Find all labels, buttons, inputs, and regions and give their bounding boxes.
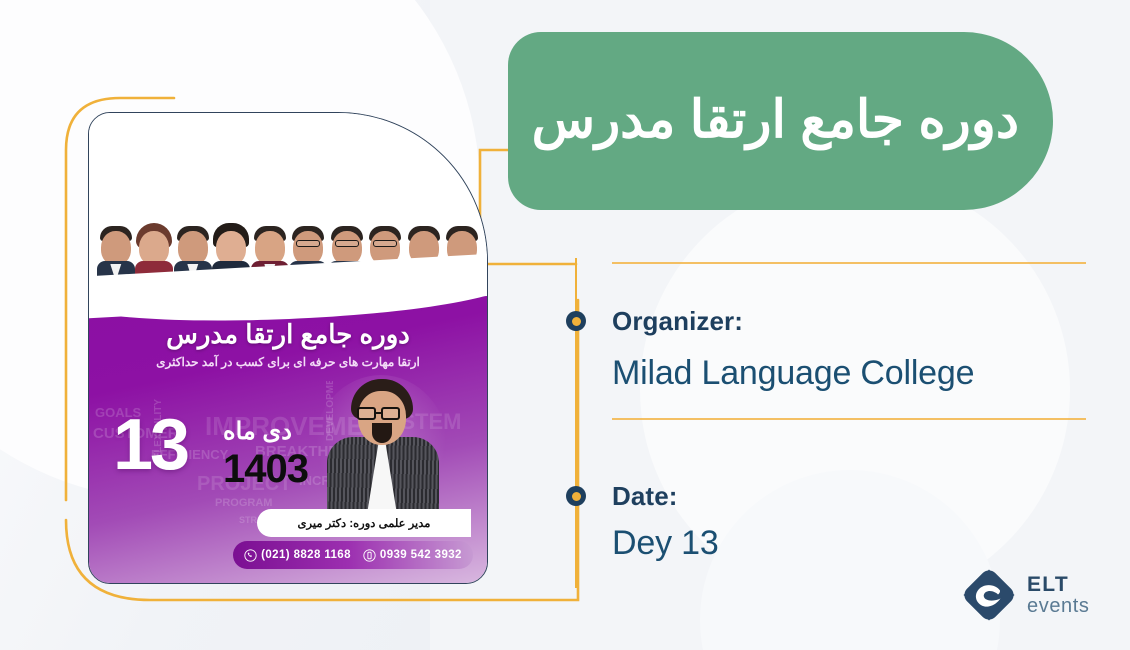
whatsapp-icon (363, 549, 376, 562)
poster-card-surface: دکتر قدیم پست دکتر خانی مقصودی دکتر سعید… (88, 112, 488, 584)
speaker-portrait: دکتر خانی مقصودی (136, 209, 174, 281)
head-shape (293, 231, 323, 265)
logo-line-events: events (1027, 596, 1090, 616)
contact-mobile[interactable]: 0939 542 3932 (363, 549, 462, 562)
bullet-dot-icon (566, 486, 586, 506)
contact-phone[interactable]: (021) 8828 1168 (244, 549, 351, 562)
head-shape (139, 231, 169, 265)
contact-pill: (021) 8828 1168 0939 542 3932 (233, 541, 473, 569)
glasses-icon (357, 407, 407, 420)
contact-mobile-number: 0939 542 3932 (380, 549, 462, 561)
poster-date-day: 13 (113, 413, 187, 478)
poster-date-month: دی ماه (223, 417, 292, 446)
date-value: Dey 13 (612, 524, 719, 563)
speaker-portrait: دکتر قدیم پست (97, 209, 135, 281)
glasses-icon (373, 240, 397, 247)
bullet-dot-icon (566, 311, 586, 331)
info-divider-top (612, 262, 1086, 264)
poster-body-panel: GOALS CUSTOMER IMPROVEMENT EFFICIENCY BR… (89, 289, 487, 584)
info-divider-middle (612, 418, 1086, 420)
event-title-text: دوره جامع ارتقا مدرس (532, 91, 1019, 151)
poster-date-year: 1403 (223, 449, 308, 489)
head-shape (178, 231, 208, 265)
event-title-badge: دوره جامع ارتقا مدرس (508, 32, 1053, 210)
event-poster[interactable]: دکتر قدیم پست دکتر خانی مقصودی دکتر سعید… (88, 112, 488, 584)
promo-card-canvas: دوره جامع ارتقا مدرس Organizer: Milad La… (0, 0, 1130, 650)
poster-subtitle: ارتقا مهارت های حرفه ای برای کسب در آمد … (89, 355, 487, 369)
head-shape (216, 231, 246, 265)
contact-phone-number: (021) 8828 1168 (261, 549, 351, 561)
head-shape (255, 231, 285, 265)
poster-date-block: 13 دی ماه 1403 (111, 407, 307, 503)
beard-shape (372, 423, 392, 443)
poster-title: دوره جامع ارتقا مدرس (89, 319, 487, 350)
logo-wordmark: ELT events (1027, 574, 1090, 616)
head-shape (101, 231, 131, 265)
manager-caption-text: مدیر علمی دوره: دکتر میری (298, 516, 431, 530)
elt-e-swirl-icon (962, 568, 1016, 622)
glasses-icon (296, 240, 320, 247)
background-circle-small (700, 470, 1000, 650)
head-shape (332, 231, 362, 265)
organizer-label: Organizer: (612, 306, 743, 337)
glasses-icon (335, 240, 359, 247)
phone-icon (244, 549, 257, 562)
logo-line-elt: ELT (1027, 574, 1090, 595)
manager-caption: مدیر علمی دوره: دکتر میری (257, 509, 471, 537)
elt-events-logo: ELT events (962, 568, 1090, 622)
instructor-portrait (305, 369, 457, 529)
info-vertical-line (575, 258, 577, 588)
organizer-value: Milad Language College (612, 354, 974, 393)
date-label: Date: (612, 481, 678, 512)
